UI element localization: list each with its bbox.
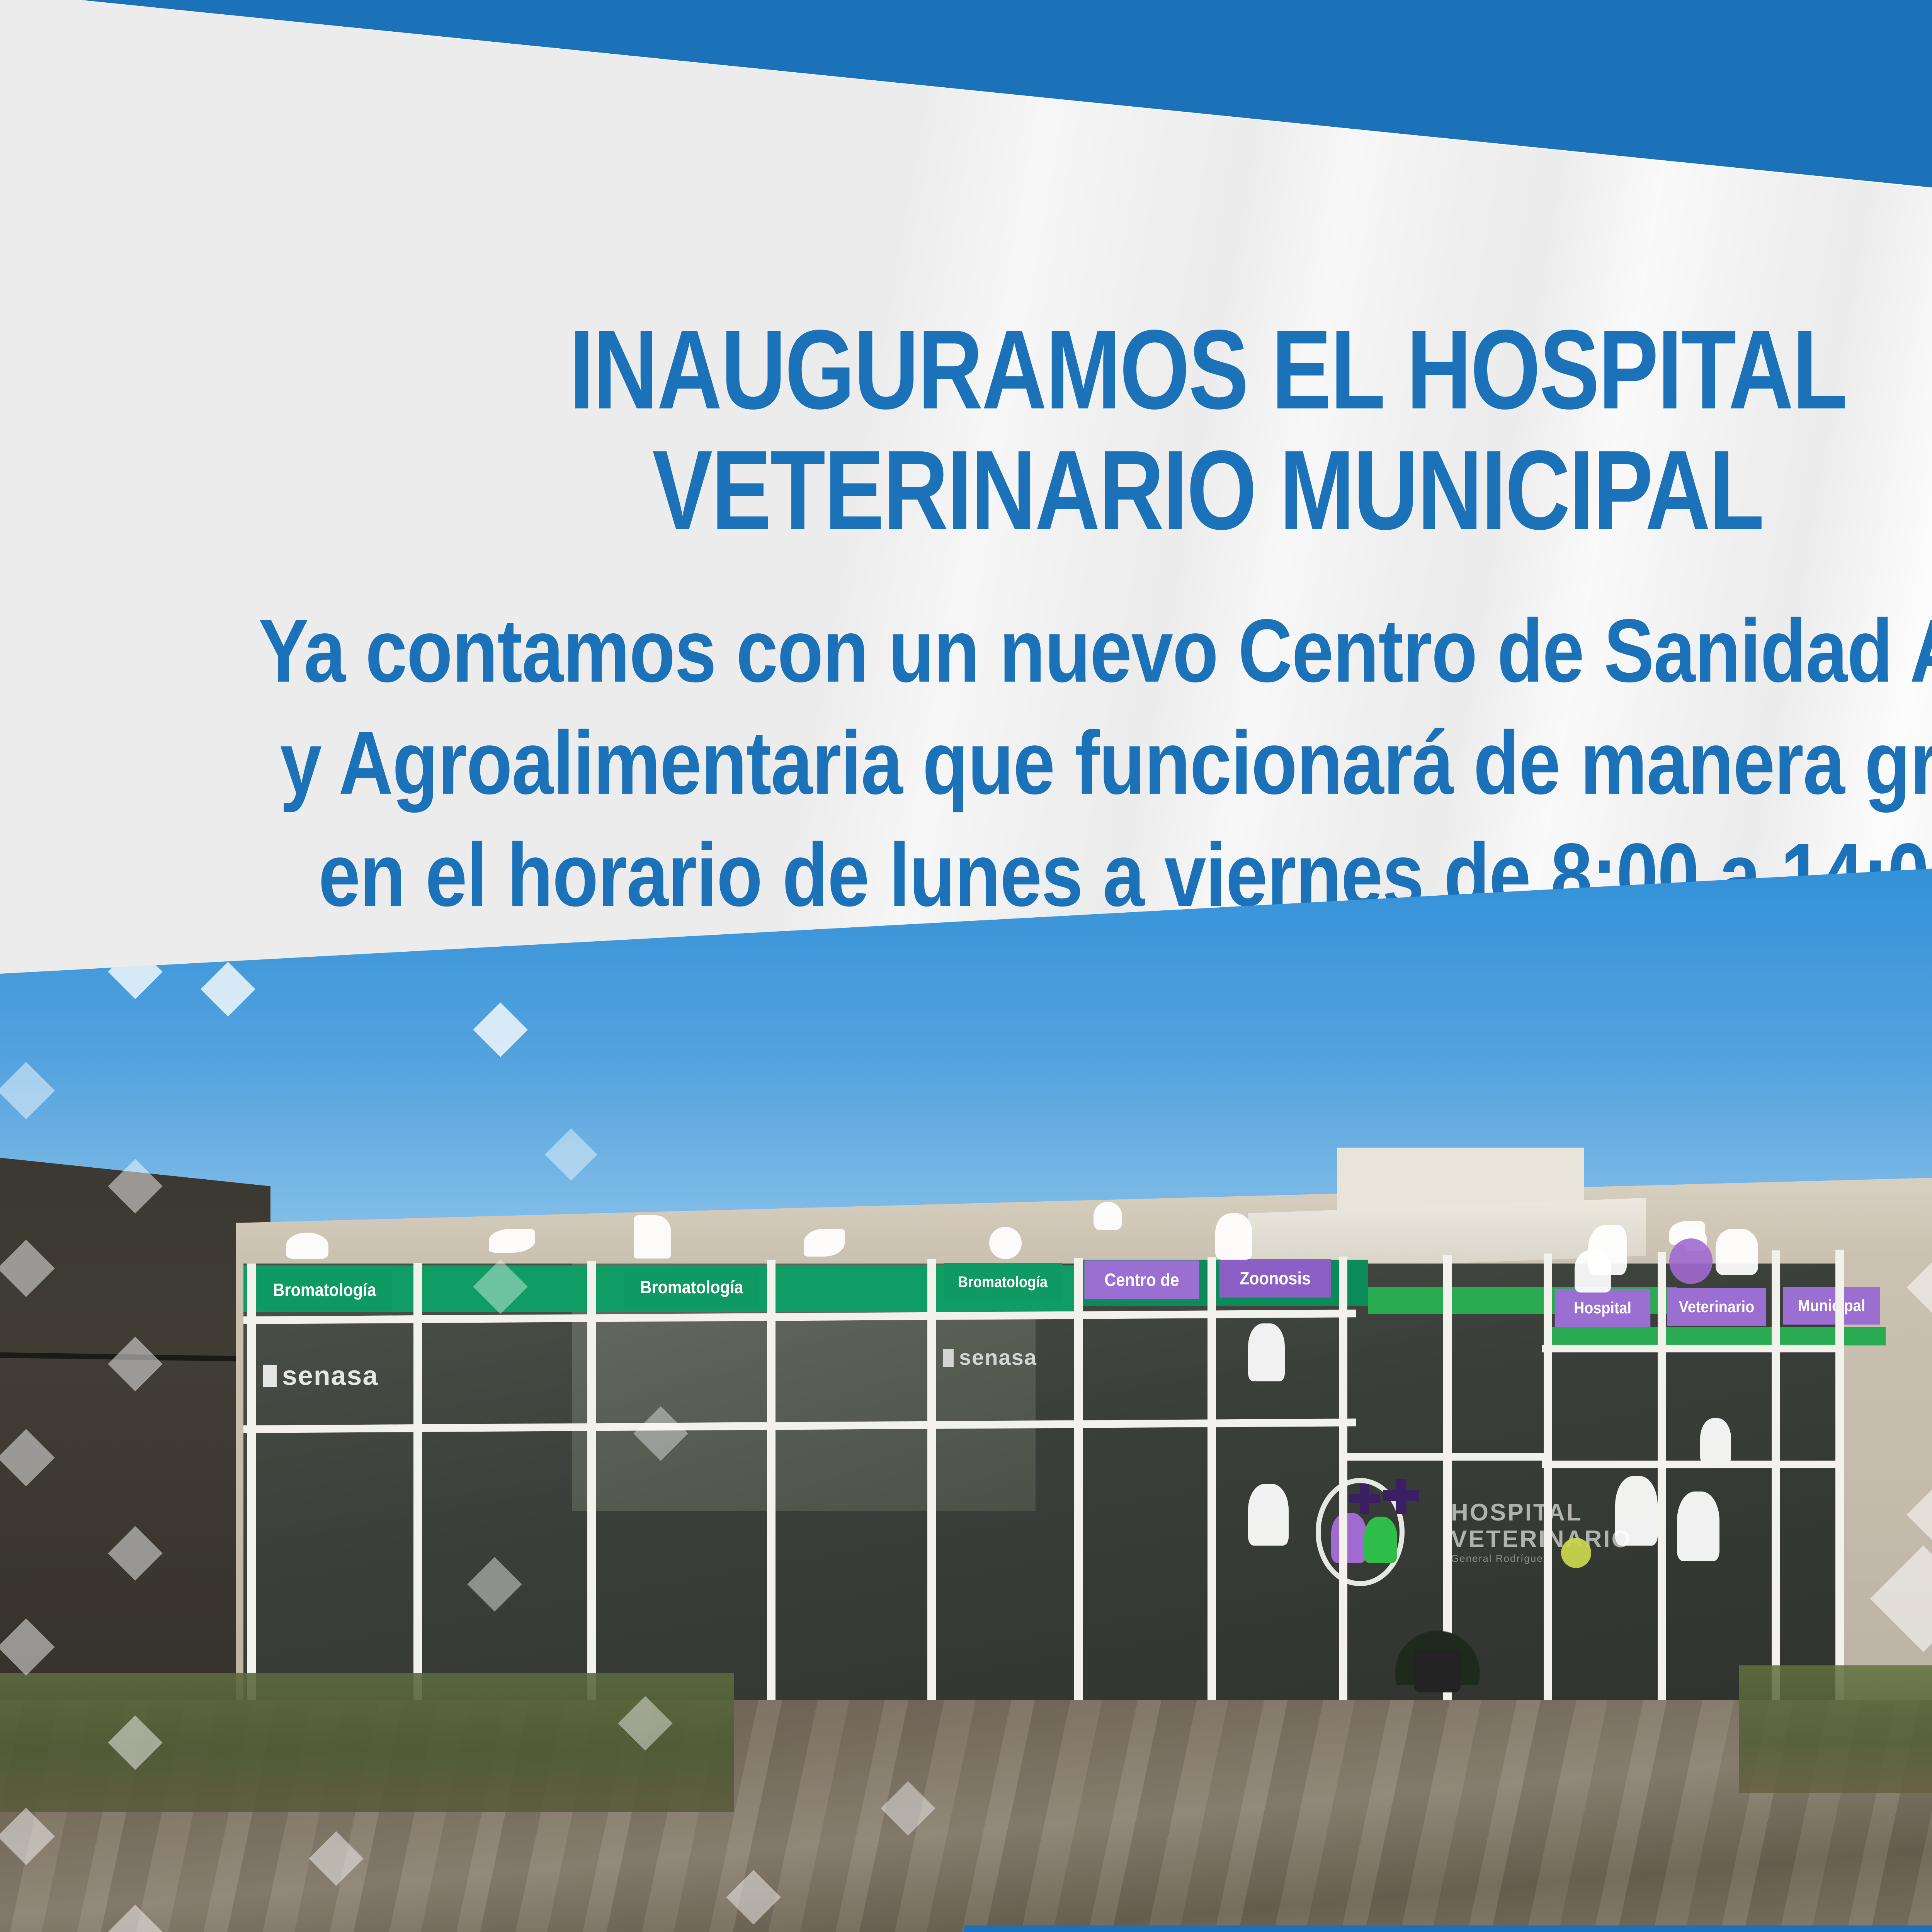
ball-sticker-icon [1561, 1538, 1591, 1568]
building-photo: Bromatología Bromatología Bromatología C… [0, 842, 1932, 1932]
cow-sticker-icon [1716, 1229, 1758, 1275]
microscope-sticker-icon [634, 1215, 671, 1259]
vet-logo-cross-small [1349, 1494, 1380, 1503]
dog-sticker-icon [1677, 1492, 1719, 1561]
cat-sticker-icon [1248, 1323, 1285, 1381]
facade-sign-zoonosis: Zoonosis [1219, 1259, 1331, 1298]
door-sign-line-3: General Rodríguez [1451, 1553, 1632, 1564]
dog-sticker-icon [1248, 1484, 1289, 1546]
title-line-2: VETERINARIO MUNICIPAL [288, 430, 1932, 550]
dog-sticker-icon [1575, 1250, 1611, 1293]
facade-sign-municipal: Municipal [1783, 1287, 1880, 1325]
window-mullion [1772, 1250, 1780, 1706]
window-transom [1542, 1345, 1843, 1352]
door-glass-lettering: HOSPITAL VETERINARIO General Rodríguez [1451, 1499, 1632, 1564]
vet-logo-cat [1331, 1513, 1367, 1563]
dog-sticker-icon [1615, 1476, 1658, 1546]
grass-right [1739, 1665, 1932, 1793]
facade-sign-veterinario: Veterinario [1667, 1288, 1766, 1326]
senasa-mark [263, 1365, 277, 1387]
senasa-window-decal: senasa [263, 1360, 378, 1391]
cat-sticker-icon [489, 1229, 535, 1253]
window-mullion [927, 1259, 936, 1715]
facade-sign-centro-de: Centro de [1085, 1260, 1199, 1299]
door-sign-line-1: HOSPITAL [1451, 1499, 1632, 1526]
quote-text: “Todo parece imposible hasta que se hace… [958, 1925, 1932, 1932]
facade-sign-bromatologia-2: Bromatología [624, 1267, 760, 1307]
title-line-1: INAUGURAMOS EL HOSPITAL [288, 309, 1932, 430]
window-mullion [1658, 1252, 1666, 1708]
window-transom [1542, 1461, 1843, 1468]
facade-sign-hospital: Hospital [1555, 1289, 1651, 1327]
cat-sticker-icon [286, 1233, 328, 1259]
window-mullion [247, 1264, 256, 1719]
window-mullion [1074, 1258, 1083, 1714]
dog-sticker-icon [1700, 1418, 1731, 1464]
dog-sticker-icon [1215, 1213, 1252, 1260]
page-subtitle: Ya contamos con un nuevo Centro de Sanid… [0, 595, 1932, 931]
clipboard-sticker-icon [989, 1227, 1022, 1259]
poster-canvas: INAUGURAMOS EL HOSPITAL VETERINARIO MUNI… [0, 0, 1932, 1932]
window-mullion [1339, 1257, 1347, 1713]
page-title: INAUGURAMOS EL HOSPITAL VETERINARIO MUNI… [0, 309, 1932, 551]
plant-pot [1414, 1650, 1461, 1692]
quote-banner: “Todo parece imposible hasta que se hace… [964, 1925, 1932, 1932]
window-transom [1341, 1453, 1549, 1461]
window-mullion [587, 1261, 596, 1717]
subtitle-line-1: Ya contamos con un nuevo Centro de Sanid… [248, 595, 1932, 707]
magnifier-sticker-icon [804, 1229, 845, 1257]
facade-sign-bromatologia-1: Bromatología [257, 1269, 393, 1310]
vet-logo-cross-large [1383, 1490, 1419, 1501]
window-mullion [1544, 1253, 1552, 1709]
vet-logo-dog [1364, 1517, 1397, 1563]
door-sign-line-2: VETERINARIO [1451, 1526, 1632, 1553]
paw-sticker-icon [1094, 1202, 1122, 1230]
window-mullion [413, 1263, 422, 1719]
subtitle-line-2: y Agroalimentaria que funcionará de mane… [248, 707, 1932, 819]
window-mullion [1207, 1257, 1216, 1713]
window-mullion [1835, 1250, 1844, 1706]
vet-badge-icon [1669, 1238, 1713, 1284]
senasa-window-decal: senasa [943, 1345, 1037, 1370]
senasa-mark [943, 1349, 954, 1367]
window-mullion [767, 1260, 776, 1716]
facade-sign-bromatologia-3: Bromatología [944, 1263, 1062, 1301]
